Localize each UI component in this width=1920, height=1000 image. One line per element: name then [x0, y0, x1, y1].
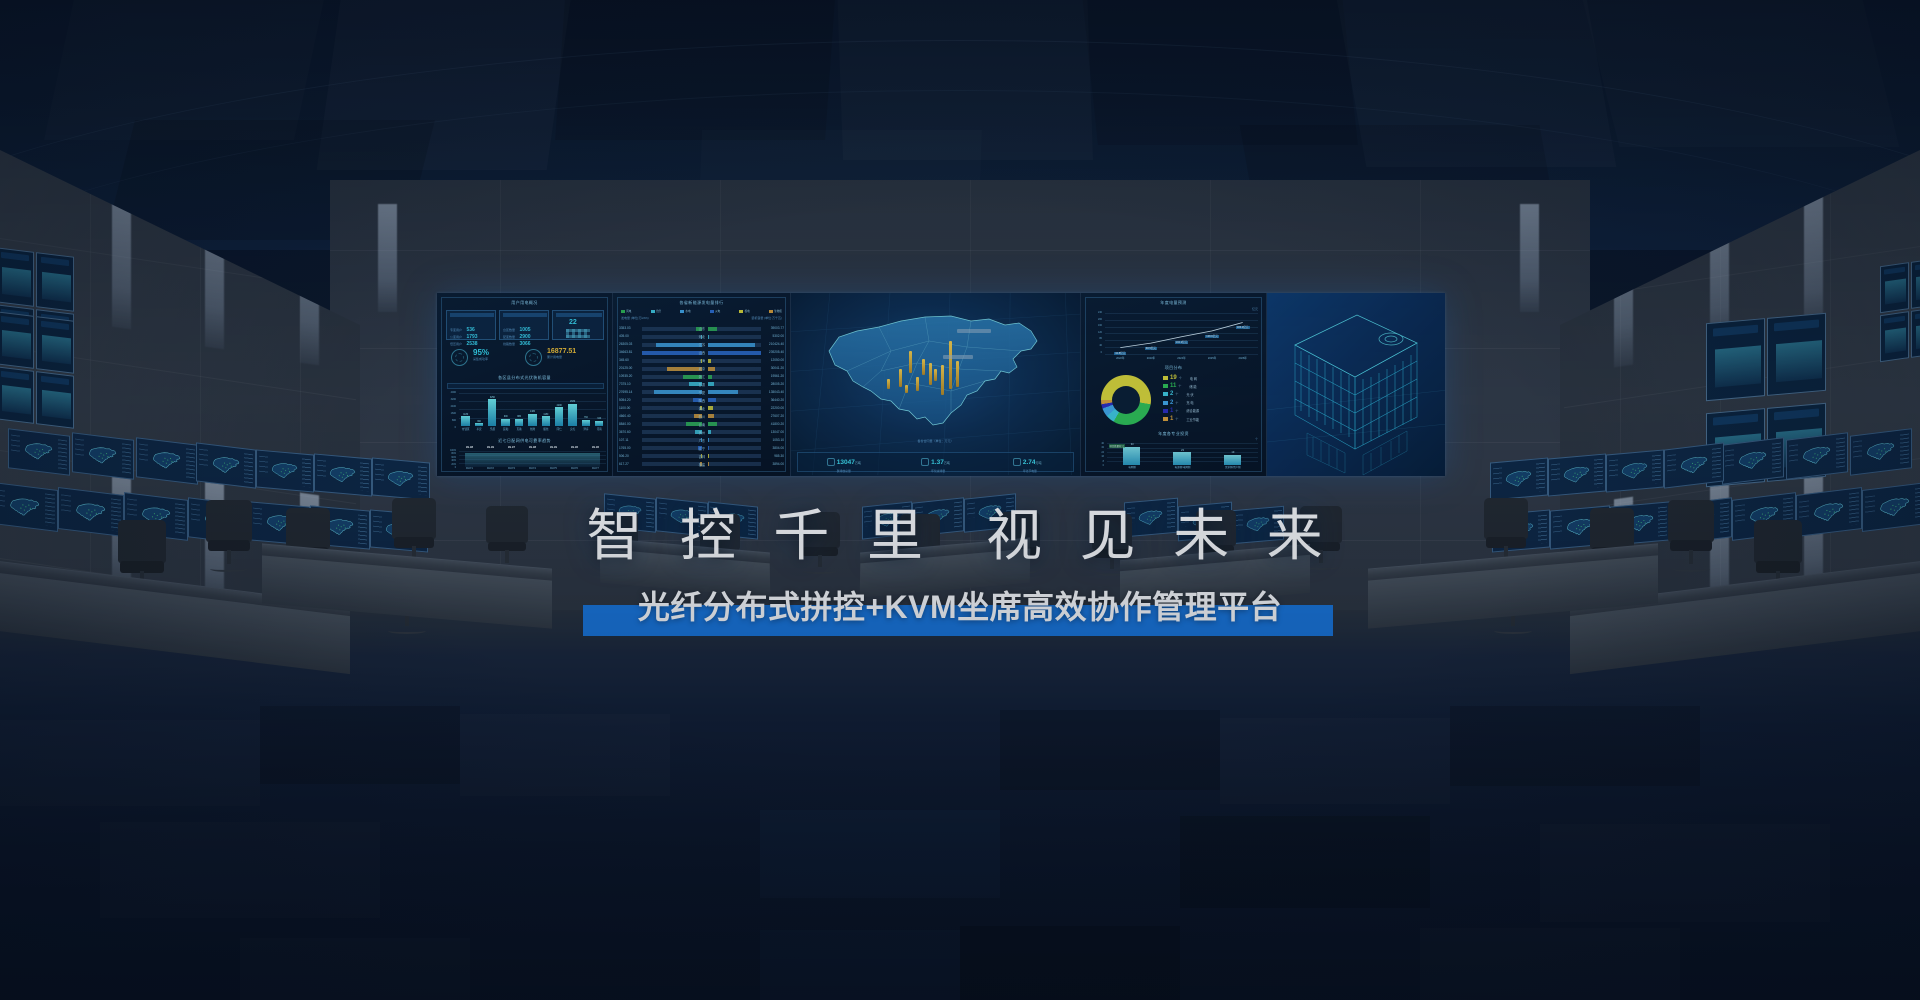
x-tick: 尖扎 — [566, 427, 579, 431]
wall-monitor[interactable] — [1767, 313, 1826, 396]
row-left-track — [642, 343, 702, 347]
legend-unit: 个 — [1178, 384, 1181, 388]
china-map-icon — [270, 457, 299, 485]
legend-unit: 个 — [1175, 401, 1178, 405]
monitor-left-panel — [139, 444, 149, 463]
row-right-track — [708, 359, 761, 363]
table-row: 4660.40四川27607.20 — [619, 413, 784, 420]
row-left-track — [642, 414, 702, 418]
legend-label: 综合能源 — [1186, 408, 1199, 413]
gauge-value: 16877.51 — [547, 348, 576, 355]
map-bar — [956, 361, 959, 387]
chair-base — [1494, 628, 1533, 634]
row-name: 福建 — [699, 462, 705, 467]
bar — [568, 404, 576, 426]
row-right-fill — [708, 406, 713, 410]
bottom-chart-yaxis: 4032241680 — [1085, 442, 1105, 466]
row-right-value: 39003.77 — [771, 326, 784, 330]
desk-monitor[interactable] — [8, 428, 70, 476]
point-label-wrap: 138.6亿元 — [1197, 324, 1228, 342]
desk-monitor[interactable] — [136, 437, 198, 485]
monitor-side-panel — [58, 439, 68, 471]
wall-monitor[interactable] — [1911, 258, 1920, 309]
legend-label: 生物质 — [774, 309, 782, 313]
bar-chart-title: 各区县分布式光伏装机容量 — [437, 375, 612, 381]
hero-title-right: 视 见 未 来 — [986, 504, 1334, 567]
row-left-track — [642, 430, 702, 434]
table-row: 10935.20浙江19561.20 — [619, 373, 784, 380]
y-tick: 32 — [1101, 446, 1104, 449]
kpi-box-2: 台区数量 1005 配变数量 2900 线路数量 3066 — [499, 310, 549, 340]
row-right-track — [708, 406, 761, 410]
control-room-hero-banner: 用户用电概况 专变用户 536 公变用户 1793 低压用户 2538 台区数量… — [0, 0, 1920, 1000]
row-right-track — [708, 414, 761, 418]
row-left-track — [642, 398, 702, 402]
bar-value-label: 1480 — [526, 411, 539, 413]
wall-monitor[interactable] — [1880, 311, 1909, 362]
trend-unit: 亿元 — [1252, 307, 1258, 311]
row-name: 甘肃 — [699, 382, 705, 387]
y-tick: 24 — [1101, 451, 1104, 454]
x-tick: 互助 — [512, 427, 525, 431]
hero-title-left: 智 控 千 里 — [586, 504, 934, 567]
row-right-track — [708, 398, 761, 402]
map-bar — [887, 379, 890, 389]
row-name: 江苏 — [699, 342, 705, 347]
row-right-fill — [708, 414, 714, 418]
bar-value-label: 760 — [579, 417, 592, 419]
china-map-icon — [1801, 440, 1832, 471]
legend-unit: 个 — [1179, 376, 1182, 380]
trend-chart-xaxis: 2022年2023年2024年2025年2026年 — [1105, 356, 1258, 362]
row-left-value: 7375.10 — [619, 382, 631, 386]
point-label: 99.99 — [543, 445, 564, 449]
point-label-wrap: 186.3亿元 — [1227, 315, 1258, 333]
video-wall[interactable]: 用户用电概况 专变用户 536 公变用户 1793 低压用户 2538 台区数量… — [437, 293, 1445, 476]
bar — [1173, 452, 1190, 465]
row-name: 山东 — [699, 326, 705, 331]
point-label: 104.2亿元 — [1175, 341, 1189, 344]
row-right-track — [708, 351, 761, 355]
y-tick: 80% — [451, 453, 456, 455]
monitor-left-panel — [1493, 468, 1502, 485]
y-tick: 80 — [1099, 337, 1102, 340]
row-right-track — [708, 438, 761, 442]
monitor-left-panel — [1853, 441, 1863, 460]
desk-monitor[interactable] — [196, 442, 256, 488]
area-chart — [459, 451, 606, 467]
legend-label: 火电 — [715, 309, 720, 313]
monitor-side-panel — [1772, 442, 1782, 474]
x-tick: DAY2 — [480, 467, 501, 470]
bar-value-label: 2280 — [553, 405, 566, 407]
table-row: 1765.00辽宁3804.00 — [619, 445, 784, 452]
desk-monitor[interactable] — [72, 432, 134, 480]
bar-value-label: 3250 — [486, 397, 499, 399]
row-right-value: 3894.00 — [772, 462, 784, 466]
vw-screen-analytics[interactable]: 年度电量预测 亿元 42.8亿元68.5亿元104.2亿元138.6亿元186.… — [1081, 293, 1267, 476]
legend-swatch — [621, 310, 625, 313]
legend-unit: 个 — [1175, 392, 1178, 396]
legend-value: 1 — [1170, 408, 1173, 414]
legend-item: 2个充 电 — [1163, 400, 1194, 406]
row-left-track — [642, 390, 702, 394]
desk-monitor[interactable] — [1490, 457, 1548, 500]
point-label: 42.8亿元 — [1114, 352, 1126, 355]
vw-screen-energy-overview[interactable]: 用户用电概况 专变用户 536 公变用户 1793 低压用户 2538 台区数量… — [437, 293, 613, 476]
legend-swatch — [1163, 392, 1168, 396]
x-tick: 需求侧/用户侧 — [1208, 465, 1258, 469]
row-name: 北京 — [699, 366, 705, 371]
gridline — [459, 455, 606, 456]
x-tick: DAY1 — [459, 467, 480, 470]
wall-monitor[interactable] — [0, 366, 34, 424]
y-tick: 240 — [1098, 311, 1102, 314]
desk-monitor[interactable] — [1722, 437, 1784, 485]
bar — [582, 420, 590, 426]
china-map-icon — [1562, 461, 1591, 489]
bar-value-label: 360 — [472, 421, 485, 423]
donut-legend: 19个电 网11个储 能2个光 伏2个充 电1个综合能源1个工业节能 — [1163, 375, 1259, 425]
hero-title: 智 控 千 里视 见 未 来 — [0, 508, 1920, 564]
row-name: 陕西 — [699, 398, 705, 403]
row-right-value: 28005.20 — [771, 382, 784, 386]
monitor-left-panel — [11, 435, 21, 454]
desk-monitor[interactable] — [372, 457, 430, 500]
wall-monitor[interactable] — [0, 247, 34, 307]
kpi-value: 3066 — [519, 341, 530, 347]
table-row: 1100.00湖北22200.00 — [619, 405, 784, 412]
row-left-fill — [656, 343, 701, 347]
y-tick: 60% — [451, 457, 456, 459]
row-left-track — [642, 438, 702, 442]
row-right-value: 210424.40 — [769, 342, 784, 346]
row-left-track — [642, 359, 702, 363]
screen-title: 年度电量预测 — [1081, 300, 1266, 306]
row-left-track — [642, 367, 702, 371]
wireframe-building-icon — [1267, 293, 1445, 476]
bar-chart-xaxis: 市辖区平安乐都民和互助化隆循化同仁尖扎泽库河南 — [459, 427, 606, 433]
bottom-chart: 332319项目数量统计 — [1107, 443, 1258, 465]
kpi-label: 线路数量 — [503, 342, 515, 346]
map-tag — [957, 329, 991, 333]
bar-value-label: 2680 — [566, 401, 579, 403]
y-tick: 0 — [455, 467, 456, 469]
legend-swatch — [1163, 384, 1168, 388]
row-right-track — [708, 343, 761, 347]
x-tick: 2022年 — [1105, 356, 1136, 360]
y-tick: 20% — [451, 464, 456, 466]
map-stats-bar: 13047万吨 碳排放总量 1.37万吨 年化减排量 2.74万吨 年化节电量 — [797, 452, 1074, 472]
row-left-value: 34663.81 — [619, 350, 632, 354]
x-tick: 2025年 — [1197, 356, 1228, 360]
area-chart-yaxis: 100%80%60%40%20%0 — [439, 450, 457, 468]
chart-annotation: 项目数量统计 — [1109, 444, 1125, 448]
monitor-left-panel — [1667, 454, 1676, 472]
gridline — [459, 409, 606, 410]
row-left-value: 1765.00 — [619, 446, 631, 450]
y-tick: 40 — [1101, 442, 1104, 445]
legend-label: 水电 — [685, 309, 690, 313]
x-tick: 电源侧/电网侧 — [1157, 465, 1207, 469]
map-bar — [899, 369, 902, 387]
row-left-value: 10935.20 — [619, 374, 632, 378]
kpi-label: 低压用户 — [450, 342, 462, 346]
x-tick: 乐都 — [486, 427, 499, 431]
map-bar — [949, 341, 952, 389]
legend-label: 电 网 — [1190, 376, 1197, 381]
bar-value-label: 1180 — [459, 414, 472, 416]
tree-icon — [827, 458, 835, 466]
gauge-label: 累计用电量 — [547, 355, 576, 359]
x-tick: 循化 — [539, 427, 552, 431]
china-map-icon — [1737, 445, 1768, 476]
legend-swatch — [710, 310, 714, 313]
wall-monitor[interactable] — [1911, 307, 1920, 358]
x-tick: 泽库 — [579, 427, 592, 431]
row-right-fill — [708, 327, 717, 331]
monitor-side-panel — [1594, 458, 1603, 488]
point-label-wrap: 104.2亿元 — [1166, 330, 1197, 348]
row-left-track — [642, 351, 702, 355]
hero-subtitle: 光纤分布式拼控+KVM坐席高效协作管理平台 — [0, 582, 1920, 628]
gridline — [459, 401, 606, 402]
legend-value: 19 — [1170, 375, 1177, 381]
china-map-icon — [328, 461, 357, 489]
row-right-track — [708, 390, 761, 394]
row-left-track — [642, 375, 702, 379]
china-map-icon — [1504, 465, 1533, 493]
china-map-icon — [211, 450, 241, 480]
row-right-fill — [708, 398, 716, 402]
wall-monitor[interactable] — [36, 252, 74, 312]
row-right-track — [708, 382, 761, 386]
x-tick: DAY3 — [501, 467, 522, 470]
row-right-value: 22200.00 — [771, 406, 784, 410]
row-right-value: 135043.40 — [769, 390, 784, 394]
stat-label: 碳排放总量 — [837, 469, 861, 473]
wall-monitor[interactable] — [36, 316, 74, 374]
row-right-value: 239205.40 — [769, 350, 784, 354]
y-tick: 0 — [1103, 464, 1104, 467]
legend-item: 生物质 — [769, 308, 782, 314]
row-right-value: 36440.20 — [771, 398, 784, 402]
row-right-value: 13047.00 — [771, 430, 784, 434]
row-name: 山西 — [699, 350, 705, 355]
table-row: 5054.20陕西36440.20 — [619, 397, 784, 404]
gridline — [459, 393, 606, 394]
x-tick: 河南 — [593, 427, 606, 431]
row-left-value: 3353.03 — [619, 326, 631, 330]
row-left-value: 4660.40 — [619, 414, 631, 418]
desk-monitor[interactable] — [1664, 442, 1724, 488]
bar — [542, 416, 550, 426]
col-right-label: 装机容量 (单位:万千瓦) — [751, 316, 782, 320]
monitor-left-panel — [1789, 445, 1799, 464]
gauge-value: 95% — [473, 348, 489, 357]
row-right-fill — [708, 422, 717, 426]
point-label: 99.99 — [480, 445, 501, 449]
monitor-left-panel — [75, 439, 85, 458]
row-left-value: 617.27 — [619, 462, 629, 466]
x-tick: 同仁 — [553, 427, 566, 431]
china-map-icon — [87, 440, 118, 471]
map-legend-label: 各省合同量（单位：万元） — [791, 439, 1080, 443]
monitor-left-panel — [317, 460, 326, 477]
y-tick: 1600 — [451, 412, 456, 415]
row-right-value: 12050.00 — [771, 358, 784, 362]
gauge-dial-2 — [525, 349, 542, 366]
row-left-value: 405.00 — [619, 334, 629, 338]
y-tick: 4000 — [451, 391, 456, 394]
bar — [475, 423, 483, 426]
row-left-fill — [642, 351, 702, 355]
row-name: 云南 — [699, 422, 705, 427]
stat-value: 1.37 — [931, 459, 944, 466]
bar — [461, 416, 469, 426]
wall-monitor-cluster-left-bottom[interactable] — [0, 311, 74, 429]
vw-screen-building-3d[interactable] — [1267, 293, 1445, 476]
point-label-wrap: 68.5亿元 — [1136, 336, 1167, 354]
bottom-chart-xaxis: 电网侧电源侧/电网侧需求侧/用户侧 — [1107, 465, 1258, 472]
desk-monitor[interactable] — [256, 449, 314, 492]
legend-swatch — [651, 310, 655, 313]
gridline — [459, 463, 606, 464]
legend-item: 水电 — [680, 308, 690, 314]
row-left-track — [642, 335, 702, 339]
trend-chart: 42.8亿元68.5亿元104.2亿元138.6亿元186.3亿元 — [1105, 313, 1258, 355]
row-right-fill — [708, 390, 738, 394]
chair-base — [803, 568, 837, 574]
map-bar — [929, 363, 932, 385]
desk-monitor[interactable] — [1786, 432, 1848, 480]
stat-label: 年化节电量 — [1023, 469, 1042, 473]
point-label: 99.98 — [459, 445, 480, 449]
row-name: 辽宁 — [699, 446, 705, 451]
desk-monitor[interactable] — [1548, 453, 1606, 496]
point-label: 99.96 — [585, 445, 606, 449]
legend-label: 光伏 — [656, 309, 661, 313]
row-right-value: 985.30 — [774, 454, 784, 458]
wall-monitor[interactable] — [1706, 318, 1765, 401]
legend-label: 工业节能 — [1186, 417, 1199, 422]
row-right-value: 5302.00 — [772, 334, 784, 338]
table-row: 8840.00云南41800.20 — [619, 421, 784, 428]
row-left-track — [642, 462, 702, 466]
x-tick: 平安 — [472, 427, 485, 431]
china-map-icon — [386, 465, 415, 493]
row-name: 上海 — [699, 358, 705, 363]
map-bar — [934, 369, 937, 381]
legend-unit: 个 — [1175, 417, 1178, 421]
row-right-fill — [708, 382, 714, 386]
stat-unit: 万吨 — [944, 461, 950, 465]
legend-item: 风电 — [621, 308, 631, 314]
row-left-fill — [654, 390, 702, 394]
row-name: 广东 — [699, 438, 705, 443]
gauge-dial-1 — [451, 349, 468, 366]
monitor-side-panel — [360, 462, 369, 492]
wall-monitor-cluster-right-top[interactable] — [1706, 313, 1826, 401]
row-right-track — [708, 462, 761, 466]
monitor-side-panel — [302, 458, 311, 488]
bar-value-label: 900 — [499, 416, 512, 418]
legend-swatch — [769, 310, 773, 313]
table-row: 3353.03山东39003.77 — [619, 325, 784, 332]
kpi-value: 2538 — [466, 341, 477, 347]
row-right-fill — [708, 446, 709, 450]
gauge-label: 采集成功率 — [473, 357, 489, 361]
y-tick: 3200 — [451, 398, 456, 401]
desk-monitor[interactable] — [1606, 449, 1664, 492]
table-row: 3670.60贵州13047.00 — [619, 429, 784, 436]
kpi-value: 22 — [569, 319, 577, 326]
monitor-side-panel — [122, 443, 132, 475]
wall-monitor-cluster-far-right[interactable] — [1880, 258, 1920, 362]
y-tick: 0 — [455, 426, 456, 429]
bar-chart-yaxis: 40003200240016008000 — [441, 391, 457, 427]
area-chart-xaxis: DAY1DAY2DAY3DAY4DAY5DAY6DAY7 — [459, 467, 606, 473]
legend-swatch — [739, 310, 743, 313]
y-tick: 800 — [452, 419, 456, 422]
stat-unit: 万吨 — [855, 461, 861, 465]
wall-monitor[interactable] — [36, 371, 74, 429]
point-label: 68.5亿元 — [1145, 347, 1157, 350]
legend-value: 2 — [1170, 391, 1173, 397]
monitor-left-panel — [375, 464, 384, 481]
row-left-track — [642, 446, 702, 450]
row-name: 浙江 — [699, 374, 705, 379]
row-left-value: 345.60 — [619, 358, 629, 362]
map-stat: 1.37万吨 年化减排量 — [890, 451, 982, 473]
line-chart-title: 近七日配网供电可靠率趋势 — [437, 438, 612, 444]
map-stat: 2.74万吨 年化节电量 — [981, 451, 1073, 473]
row-left-value: 8840.00 — [619, 422, 631, 426]
table-row: 107.11广东1053.10 — [619, 437, 784, 444]
table-row: 20125.00北京30041.20 — [619, 365, 784, 372]
vw-screen-china-map[interactable]: 各省合同量（单位：万元） 13047万吨 碳排放总量 1.37万吨 年化减排量 … — [791, 293, 1081, 476]
bar-value-label: 880 — [512, 416, 525, 418]
vw-screen-province-ranking[interactable]: 各省新能源发电量排行 风电光伏水电火电核电生物质 发电量 (单位:万kWh) 装… — [613, 293, 791, 476]
y-tick: 100% — [450, 450, 456, 452]
bar — [595, 421, 603, 426]
table-row: 27695.14宁夏135043.40 — [619, 389, 784, 396]
x-tick: 2023年 — [1136, 356, 1167, 360]
x-tick: DAY7 — [585, 467, 606, 470]
x-tick: 2024年 — [1166, 356, 1197, 360]
x-tick: 化隆 — [526, 427, 539, 431]
wall-monitor[interactable] — [1880, 262, 1909, 313]
desk-monitor[interactable] — [1850, 428, 1912, 476]
legend-item: 19个电 网 — [1163, 375, 1197, 381]
row-right-fill — [708, 359, 711, 363]
desk-monitor[interactable] — [314, 453, 372, 496]
row-right-track — [708, 327, 761, 331]
bottom-unit: 个 — [1255, 437, 1258, 441]
point-label: 138.6亿元 — [1205, 335, 1219, 338]
legend-value: 1 — [1170, 416, 1173, 422]
donut-chart — [1101, 375, 1151, 425]
bar — [488, 399, 496, 426]
china-map-icon — [1679, 450, 1709, 480]
point-label: 99.96 — [564, 445, 585, 449]
chair-base — [1672, 566, 1711, 572]
row-left-track — [642, 406, 702, 410]
legend-label: 储 能 — [1189, 384, 1196, 389]
meter-icon — [921, 458, 929, 466]
wall-monitor[interactable] — [0, 311, 34, 369]
row-left-value: 107.11 — [619, 438, 629, 442]
